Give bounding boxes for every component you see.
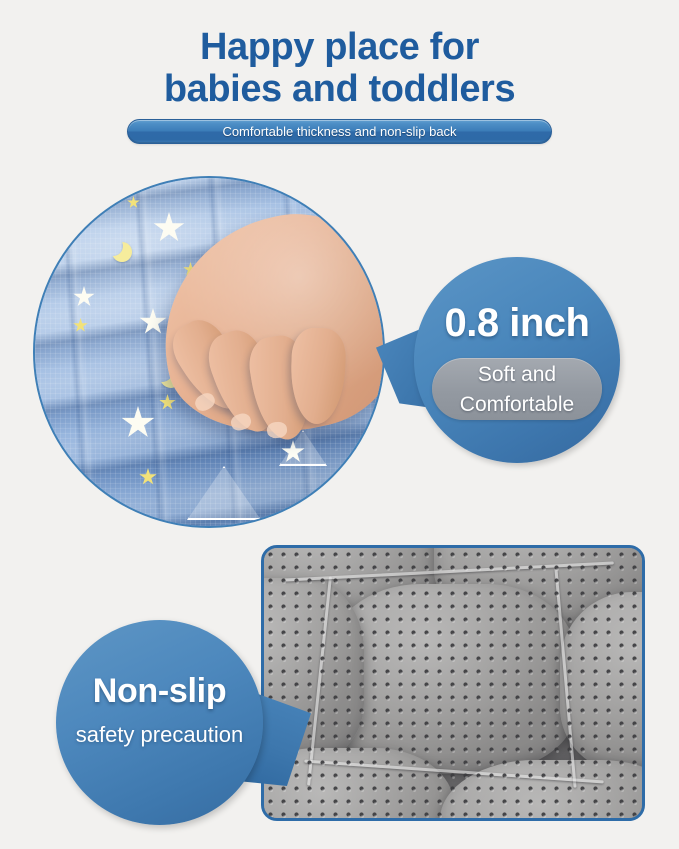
subtitle-banner-label: Comfortable thickness and non-slip back bbox=[128, 120, 551, 143]
nonslip-subtitle: safety precaution bbox=[56, 722, 263, 748]
subtitle-banner: Comfortable thickness and non-slip back bbox=[127, 119, 552, 144]
moon-motif bbox=[103, 236, 123, 256]
nonslip-title: Non-slip bbox=[56, 672, 263, 711]
callout-nonslip: Non-slip safety precaution bbox=[56, 620, 263, 825]
nonslip-dot-highlights bbox=[264, 548, 642, 818]
thickness-pill: Soft and Comfortable bbox=[432, 358, 602, 420]
title-line-1: Happy place for bbox=[0, 26, 679, 68]
thickness-pill-line-1: Soft and bbox=[432, 358, 602, 390]
page-title: Happy place for babies and toddlers bbox=[0, 26, 679, 110]
title-line-2: babies and toddlers bbox=[0, 68, 679, 110]
photo-nonslip-backing bbox=[261, 545, 645, 821]
photo-mattress-thickness bbox=[33, 176, 385, 528]
thickness-value: 0.8 inch bbox=[414, 301, 620, 346]
callout-thickness: 0.8 inch Soft and Comfortable bbox=[414, 257, 620, 463]
thickness-pill-line-2: Comfortable bbox=[432, 390, 602, 420]
header-section: Happy place for babies and toddlers Comf… bbox=[0, 0, 679, 155]
